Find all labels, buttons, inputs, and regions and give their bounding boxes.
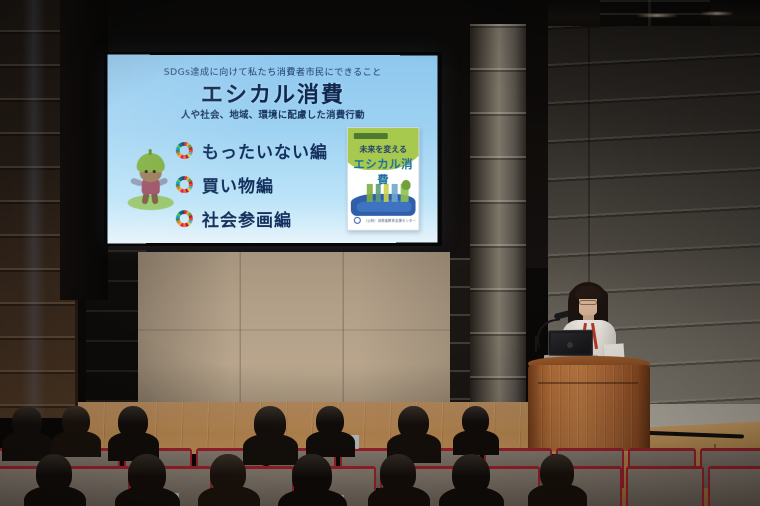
booklet-tree-icon	[402, 180, 411, 190]
laptop-logo-icon	[567, 342, 573, 348]
booklet-banner-tag	[354, 133, 388, 139]
bullet-label: 社会参画編	[202, 205, 292, 230]
ceiling-light-glint-2	[700, 12, 734, 15]
podium-seam	[528, 382, 650, 384]
audience-hair-sheen	[452, 454, 490, 495]
stone-back-panel	[138, 252, 450, 412]
mascot-cap	[137, 153, 165, 172]
list-item: もったいない編	[176, 135, 328, 165]
slide-title: エシカル消費	[107, 77, 437, 109]
audience-hair-sheen	[540, 454, 574, 491]
slide-content: SDGs達成に向けて私たち消費者市民にできること エシカル消費 人や社会、地域、…	[107, 55, 437, 244]
projection-screen[interactable]: SDGs達成に向けて私たち消費者市民にできること エシカル消費 人や社会、地域、…	[104, 52, 442, 246]
left-wall-sheen	[22, 0, 46, 418]
booklet-logo-icon	[354, 217, 361, 224]
audience-hair-sheen	[462, 406, 489, 435]
stone-panel-shading	[138, 252, 450, 412]
audience-hair-sheen	[292, 454, 332, 497]
laptop-lid	[548, 330, 593, 357]
list-item: 社会参画編	[176, 203, 328, 233]
bullet-label: 買い物編	[202, 171, 274, 196]
presenter-glasses	[579, 300, 597, 305]
pillar-rings	[470, 24, 526, 422]
sdg-wheel-icon	[176, 141, 193, 158]
left-wall-shadow	[60, 0, 108, 300]
mascot-character-icon	[126, 151, 178, 213]
booklet-cover-image: 未来を変える エシカル消費 （公財）消費者教育支援センター	[347, 127, 420, 231]
audience-hair-sheen	[254, 406, 286, 441]
audience-row-back	[0, 448, 760, 506]
audience-hair-sheen	[210, 454, 246, 493]
list-item: 買い物編	[176, 169, 328, 199]
audience-hair-sheen	[398, 406, 429, 439]
audience	[0, 404, 760, 506]
booklet-footer: （公財）消費者教育支援センター	[354, 217, 416, 224]
slide-subtitle: 人や社会、地域、環境に配慮した消費行動	[107, 107, 437, 121]
mascot-eye-right	[153, 170, 156, 173]
slide-bullet-list: もったいない編 買い物編 社会参画編	[176, 135, 328, 237]
center-pillar	[470, 24, 526, 422]
audience-hair-sheen	[62, 406, 90, 436]
audience-hair-sheen	[380, 454, 416, 493]
audience-hair-sheen	[128, 454, 166, 495]
projected-slide: SDGs達成に向けて私たち消費者市民にできること エシカル消費 人や社会、地域、…	[107, 55, 437, 244]
audience-hair-sheen	[118, 406, 148, 438]
ceiling-light-glint	[636, 14, 678, 17]
bullet-label: もったいない編	[202, 137, 328, 162]
audience-hair-sheen	[12, 406, 42, 438]
mascot-eye-left	[145, 170, 148, 173]
audience-hair-sheen	[316, 406, 344, 436]
lecture-hall-scene: SDGs達成に向けて私たち消費者市民にできること エシカル消費 人や社会、地域、…	[0, 0, 760, 506]
sdg-wheel-icon	[176, 176, 193, 193]
audience-hair-sheen	[36, 454, 72, 493]
sdg-wheel-icon	[176, 210, 193, 227]
booklet-tagline: 未来を変える	[348, 144, 419, 155]
presenter-hair-front	[575, 286, 601, 299]
booklet-footer-text: （公財）消費者教育支援センター	[364, 218, 416, 223]
